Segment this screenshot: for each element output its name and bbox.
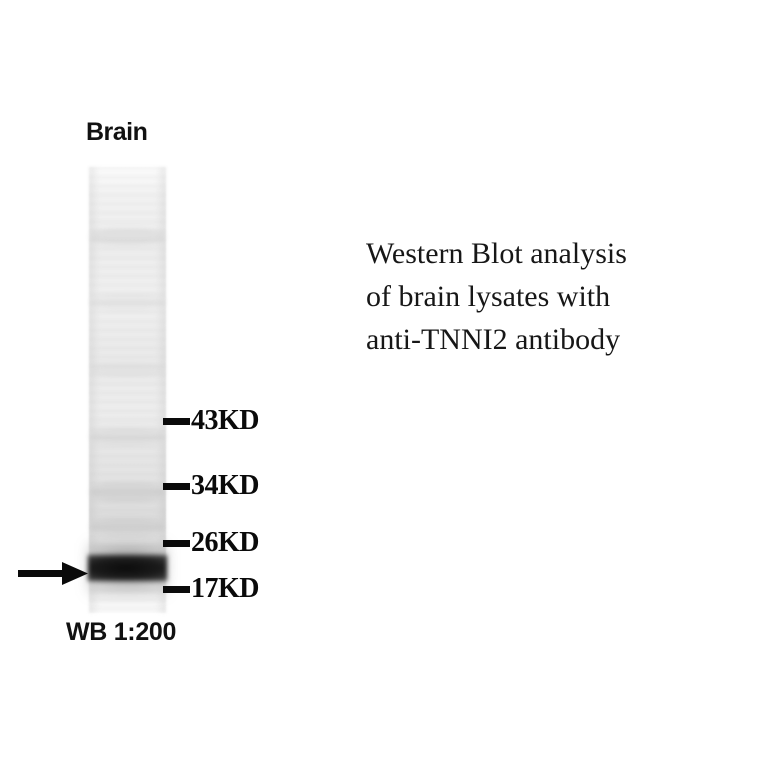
mw-tick-icon bbox=[163, 586, 190, 593]
faint-band bbox=[91, 483, 164, 501]
faint-band bbox=[91, 429, 164, 444]
mw-marker-34kd: 34KD bbox=[163, 473, 259, 499]
mw-marker-label: 26KD bbox=[191, 529, 259, 557]
figure-caption: Western Blot analysis of brain lysates w… bbox=[366, 232, 736, 361]
mw-marker-43kd: 43KD bbox=[163, 408, 259, 434]
faint-band bbox=[91, 295, 164, 309]
lane-label-brain: Brain bbox=[86, 118, 147, 147]
mw-marker-26kd: 26KD bbox=[163, 530, 259, 556]
mw-marker-17kd: 17KD bbox=[163, 576, 259, 602]
wb-dilution-label: WB 1:200 bbox=[66, 618, 176, 647]
faint-band bbox=[91, 363, 164, 376]
mw-marker-label: 34KD bbox=[191, 472, 259, 500]
mw-marker-label: 17KD bbox=[191, 575, 259, 603]
faint-band bbox=[91, 229, 164, 245]
caption-line-3: anti-TNNI2 antibody bbox=[366, 318, 736, 361]
blot-lane bbox=[89, 167, 166, 613]
main-band bbox=[88, 555, 167, 581]
mw-tick-icon bbox=[163, 483, 190, 490]
caption-line-1: Western Blot analysis bbox=[366, 232, 736, 275]
mw-tick-icon bbox=[163, 418, 190, 425]
band-pointer-arrow-icon bbox=[18, 561, 88, 587]
mw-tick-icon bbox=[163, 540, 190, 547]
caption-line-2: of brain lysates with bbox=[366, 275, 736, 318]
mw-marker-label: 43KD bbox=[191, 407, 259, 435]
western-blot-figure: Brain 43KD 34KD 26KD 17KD WB 1: bbox=[0, 0, 764, 764]
faint-band bbox=[91, 519, 164, 535]
